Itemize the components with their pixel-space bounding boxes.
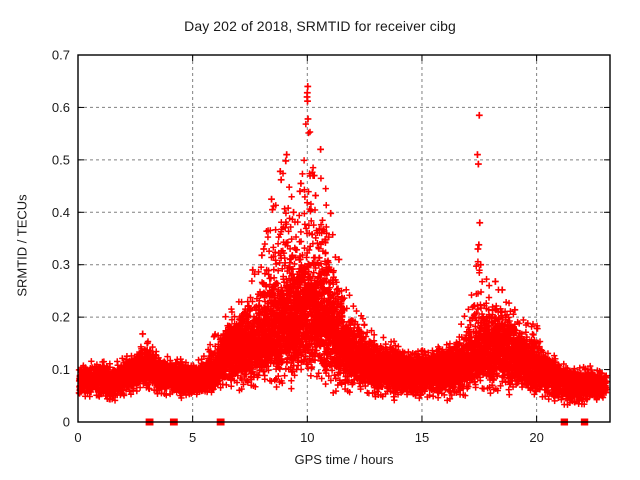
y-tick-label: 0.4: [52, 205, 70, 220]
scatter-plot-canvas: 00.10.20.30.40.50.60.705101520: [0, 0, 640, 480]
x-tick-label: 5: [189, 430, 196, 445]
y-tick-label: 0: [63, 415, 70, 430]
y-tick-label: 0.7: [52, 48, 70, 63]
chart-container: Day 202 of 2018, SRMTID for receiver cib…: [0, 0, 640, 480]
y-tick-label: 0.5: [52, 152, 70, 167]
data-points: [76, 83, 610, 425]
x-tick-label: 10: [300, 430, 314, 445]
y-tick-label: 0.2: [52, 310, 70, 325]
x-tick-label: 15: [415, 430, 429, 445]
y-tick-label: 0.6: [52, 100, 70, 115]
y-tick-label: 0.1: [52, 362, 70, 377]
x-tick-label: 0: [74, 430, 81, 445]
y-tick-label: 0.3: [52, 257, 70, 272]
x-tick-label: 20: [529, 430, 543, 445]
